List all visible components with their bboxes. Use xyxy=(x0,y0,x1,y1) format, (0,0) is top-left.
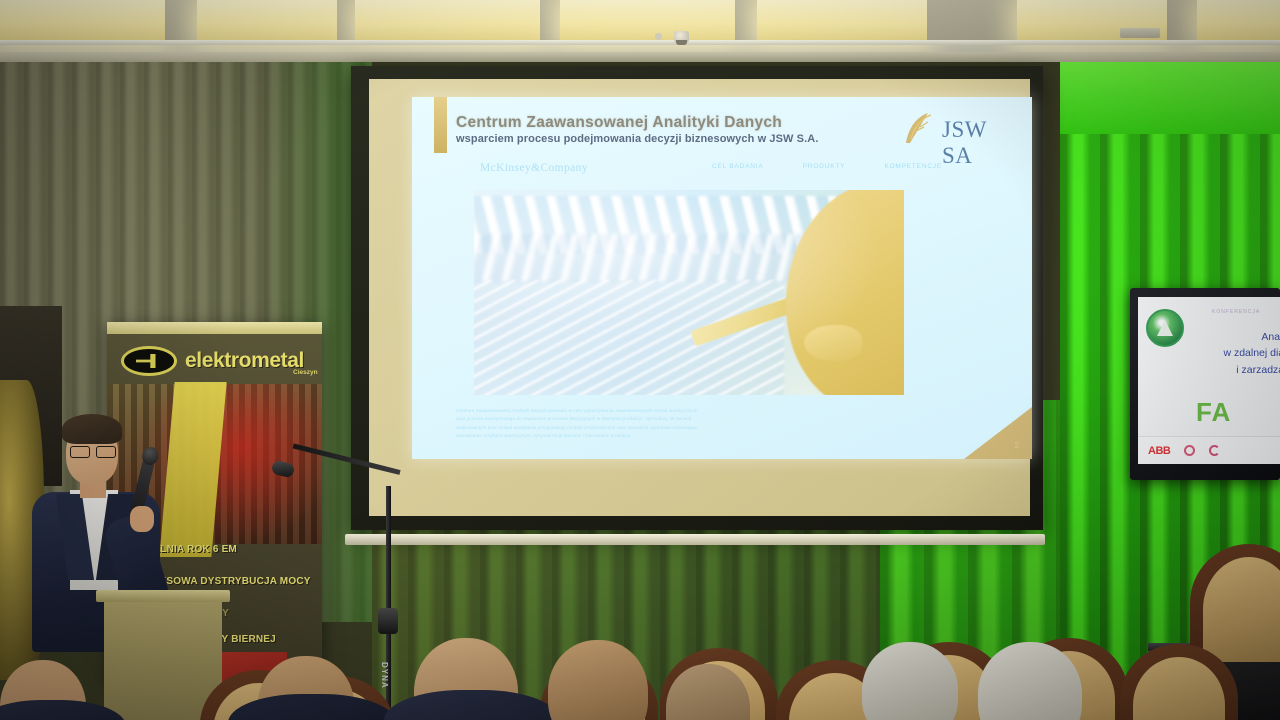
ring-logo-2-icon xyxy=(1209,445,1220,456)
slide-gold-accent-bar xyxy=(434,97,447,153)
slide-nav-item-0[interactable]: CEL BADANIA xyxy=(712,163,764,170)
monitor-line: i zarzadzan xyxy=(1190,362,1280,378)
ceiling xyxy=(0,0,1280,62)
slide-body-line: realizowanych prac zespol analitykow prz… xyxy=(456,424,956,432)
ceiling-light-panel xyxy=(560,0,735,40)
slide-nav[interactable]: CEL BADANIA PRODUKTY KOMPETENCJE xyxy=(712,163,942,170)
slide-nav-item-2[interactable]: KOMPETENCJE xyxy=(884,163,942,170)
elektrometal-oval-logo-icon xyxy=(121,346,177,376)
jsw-sa-logo: JSW SA xyxy=(898,109,1018,155)
mic-stand-clutch xyxy=(378,608,398,634)
monitor-headline: FA xyxy=(1196,397,1231,428)
wheat-leaf-icon xyxy=(898,109,938,149)
slide-subtitle: wsparciem procesu podejmowania decyzji b… xyxy=(456,133,818,145)
slide-page-number: 2 xyxy=(1015,441,1019,450)
slide-body-line: zarzadzanie ryzykiem operacyjnym, optyma… xyxy=(456,432,956,440)
mckinsey-logo-text: McKinsey&Company xyxy=(480,162,588,174)
banner-company-name: elektrometal xyxy=(185,349,304,373)
ceiling-sensor-icon xyxy=(655,33,662,40)
eyeglasses-icon xyxy=(70,446,116,456)
conference-hall-scene: Centrum Zaawansowanej Analityki Danych w… xyxy=(0,0,1280,720)
ceiling-vent-icon xyxy=(1120,28,1160,38)
projection-screen-bottom-bar xyxy=(345,534,1045,545)
monitor-text-lines: Analiz w zdalnej diag i zarzadzan xyxy=(1190,329,1280,378)
speaker-hand xyxy=(130,506,154,532)
slide-body-line: oraz uczenia maszynowego do wspierania p… xyxy=(456,415,956,423)
slide-photo-charts-and-hand xyxy=(474,190,904,395)
slide-nav-item-1[interactable]: PRODUKTY xyxy=(803,163,846,170)
slide-corner-accent xyxy=(964,407,1032,459)
abb-logo: ABB xyxy=(1148,445,1170,457)
banner-city: Cieszyn xyxy=(293,369,318,376)
slide-body-text: Centrum Zaawansowanej Analityki Danych p… xyxy=(456,407,956,441)
monitor-line: Analiz xyxy=(1190,329,1280,345)
institute-emblem-icon xyxy=(1146,309,1184,347)
ceiling-light-panel xyxy=(355,0,540,40)
ceiling-light-panel xyxy=(757,0,927,40)
monitor-sponsor-bar: ABB xyxy=(1138,436,1280,464)
mic-stand-brand-label: DYNA xyxy=(380,662,389,689)
presentation-slide[interactable]: Centrum Zaawansowanej Analityki Danych w… xyxy=(412,97,1032,459)
lectern xyxy=(104,594,222,720)
slide-body-line: Centrum Zaawansowanej Analityki Danych p… xyxy=(456,407,956,415)
ring-logo-icon xyxy=(1184,445,1195,456)
slide-title: Centrum Zaawansowanej Analityki Danych xyxy=(456,114,782,132)
side-monitor[interactable]: KONFERENCJA Analiz w zdalnej diag i zarz… xyxy=(1130,288,1280,480)
curtain-right-valance xyxy=(1060,62,1280,134)
side-monitor-screen: KONFERENCJA Analiz w zdalnej diag i zarz… xyxy=(1138,297,1280,464)
lectern-top xyxy=(96,590,230,602)
monitor-line: w zdalnej diag xyxy=(1190,345,1280,361)
smoke-detector-icon xyxy=(674,31,689,44)
monitor-faint-header: KONFERENCJA xyxy=(1212,309,1260,315)
jsw-sa-logo-text: JSW SA xyxy=(942,117,1018,169)
